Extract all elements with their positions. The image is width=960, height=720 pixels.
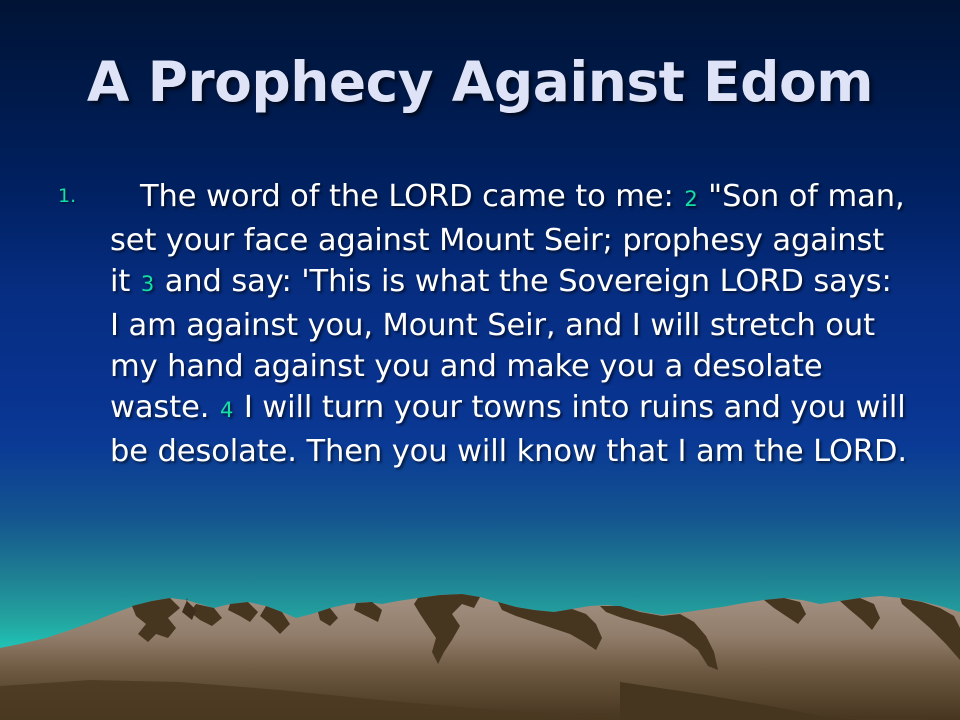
page-title: A Prophecy Against Edom (0, 50, 960, 114)
verse-number: 3 (140, 272, 155, 296)
verse-number: 4 (219, 398, 234, 422)
list-marker: 1. (52, 176, 110, 217)
verse-text: The word of the LORD came to me: 2 "Son … (110, 176, 908, 472)
verse-number: 2 (683, 187, 698, 211)
verse-block: 1. The word of the LORD came to me: 2 "S… (52, 176, 908, 472)
mountain-ridge-silhouette (0, 590, 960, 720)
slide-canvas: A Prophecy Against Edom 1. The word of t… (0, 0, 960, 720)
